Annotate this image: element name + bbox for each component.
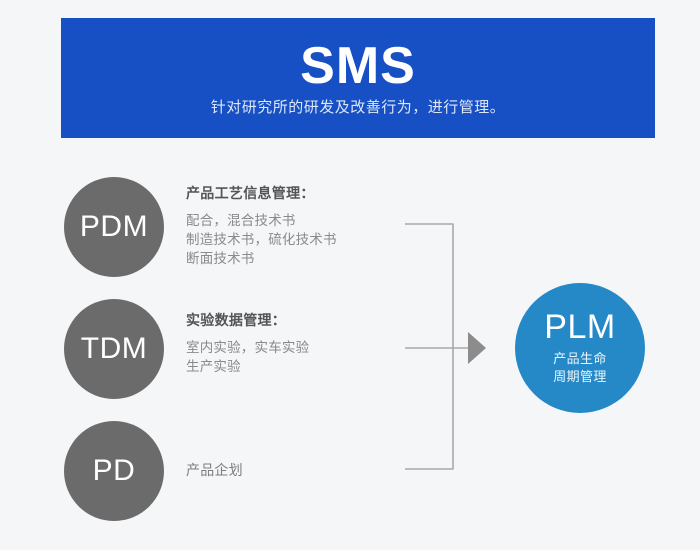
module-line: 产品企划: [186, 461, 416, 481]
module-title-tdm: 实验数据管理：: [186, 311, 416, 331]
module-line: 室内实验，实车实验: [186, 338, 416, 357]
banner-title: SMS: [300, 39, 416, 94]
module-circle-pdm[interactable]: PDM: [64, 177, 164, 277]
plm-acronym: PLM: [544, 310, 615, 344]
module-circle-tdm[interactable]: TDM: [64, 299, 164, 399]
module-line: 制造技术书，硫化技术书: [186, 230, 416, 249]
module-text-pdm: 产品工艺信息管理： 配合，混合技术书 制造技术书，硫化技术书 断面技术书: [186, 177, 416, 268]
module-line: 断面技术书: [186, 249, 416, 268]
diagram-canvas: SMS 针对研究所的研发及改善行为，进行管理。 PDM 产品工艺信息管理： 配合…: [0, 0, 700, 550]
module-lines-pdm: 配合，混合技术书 制造技术书，硫化技术书 断面技术书: [186, 211, 416, 268]
banner-subtitle: 针对研究所的研发及改善行为，进行管理。: [211, 98, 506, 118]
module-text-pd: 产品企划: [186, 421, 416, 481]
module-lines-tdm: 室内实验，实车实验 生产实验: [186, 338, 416, 376]
plm-circle[interactable]: PLM 产品生命 周期管理: [515, 283, 645, 413]
arrow-right-icon: [468, 332, 486, 364]
plm-subtitle: 产品生命 周期管理: [553, 350, 607, 385]
plm-subtitle-line: 周期管理: [553, 368, 607, 386]
module-title-pdm: 产品工艺信息管理：: [186, 184, 416, 204]
plm-subtitle-line: 产品生命: [553, 350, 607, 368]
module-lines-pd: 产品企划: [186, 461, 416, 481]
header-banner: SMS 针对研究所的研发及改善行为，进行管理。: [61, 18, 655, 138]
module-line: 生产实验: [186, 357, 416, 376]
module-circle-pd[interactable]: PD: [64, 421, 164, 521]
module-text-tdm: 实验数据管理： 室内实验，实车实验 生产实验: [186, 299, 416, 376]
module-line: 配合，混合技术书: [186, 211, 416, 230]
